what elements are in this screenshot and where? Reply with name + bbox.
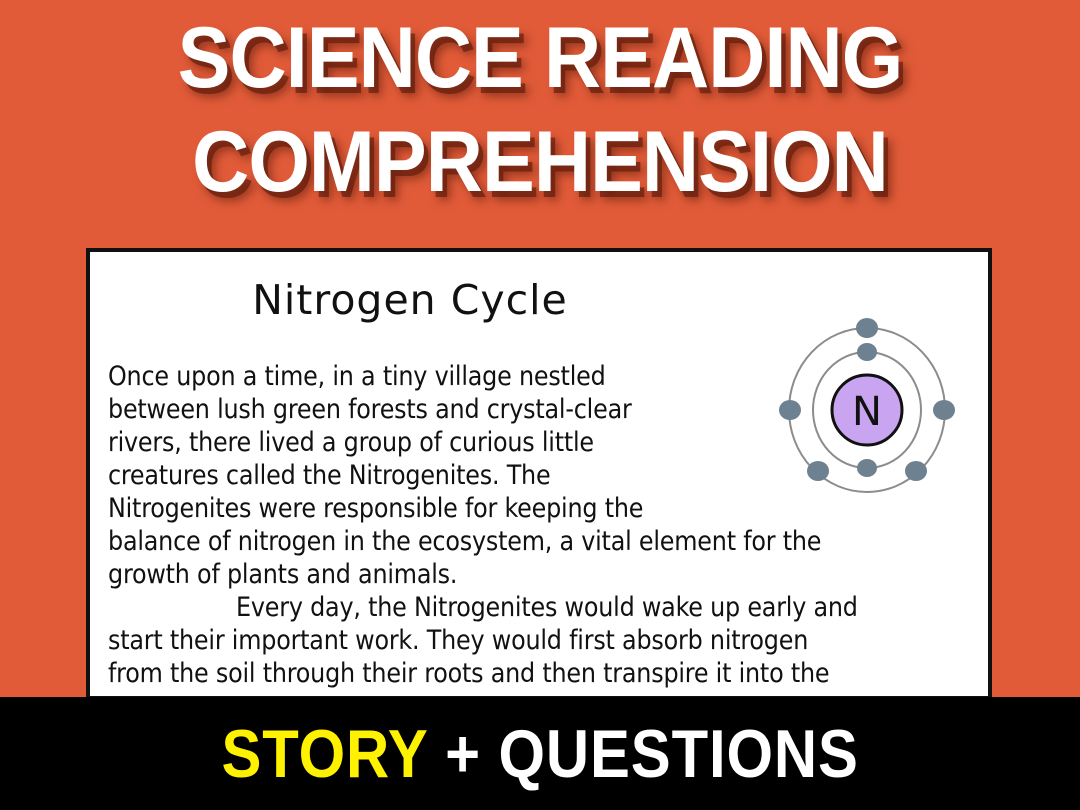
banner-story-label: STORY [221, 716, 427, 792]
story-line-10: from the soil through their roots and th… [108, 657, 974, 690]
story-line-1: Once upon a time, in a tiny village nest… [108, 360, 708, 393]
banner-questions-label: + QUESTIONS [427, 716, 858, 792]
story-line-7: growth of plants and animals. [108, 558, 974, 591]
poster-heading: SCIENCE READING COMPREHENSION [0, 6, 1080, 214]
electron-outer-top [856, 318, 878, 338]
worksheet-preview-panel[interactable]: Nitrogen Cycle N [86, 248, 992, 700]
worksheet-content: Nitrogen Cycle N [90, 252, 988, 696]
story-line-5: Nitrogenites were responsible for keepin… [108, 492, 974, 525]
poster-canvas: SCIENCE READING COMPREHENSION Nitrogen C… [0, 0, 1080, 810]
heading-line-1: SCIENCE READING [43, 6, 1037, 110]
electron-inner-top [857, 343, 877, 361]
worksheet-body-text: Once upon a time, in a tiny village nest… [108, 360, 974, 690]
story-line-8: Every day, the Nitrogenites would wake u… [108, 591, 974, 624]
story-line-3: rivers, there lived a group of curious l… [108, 426, 708, 459]
story-line-4: creatures called the Nitrogenites. The [108, 459, 708, 492]
heading-line-2: COMPREHENSION [43, 110, 1037, 214]
story-line-9: start their important work. They would f… [108, 624, 974, 657]
story-line-2: between lush green forests and crystal-c… [108, 393, 708, 426]
banner-label: STORY + QUESTIONS [221, 719, 858, 789]
story-line-6: balance of nitrogen in the ecosystem, a … [108, 525, 974, 558]
bottom-banner: STORY + QUESTIONS [0, 697, 1080, 810]
worksheet-title: Nitrogen Cycle [90, 276, 730, 324]
story-line-8-text: Every day, the Nitrogenites would wake u… [236, 592, 858, 623]
